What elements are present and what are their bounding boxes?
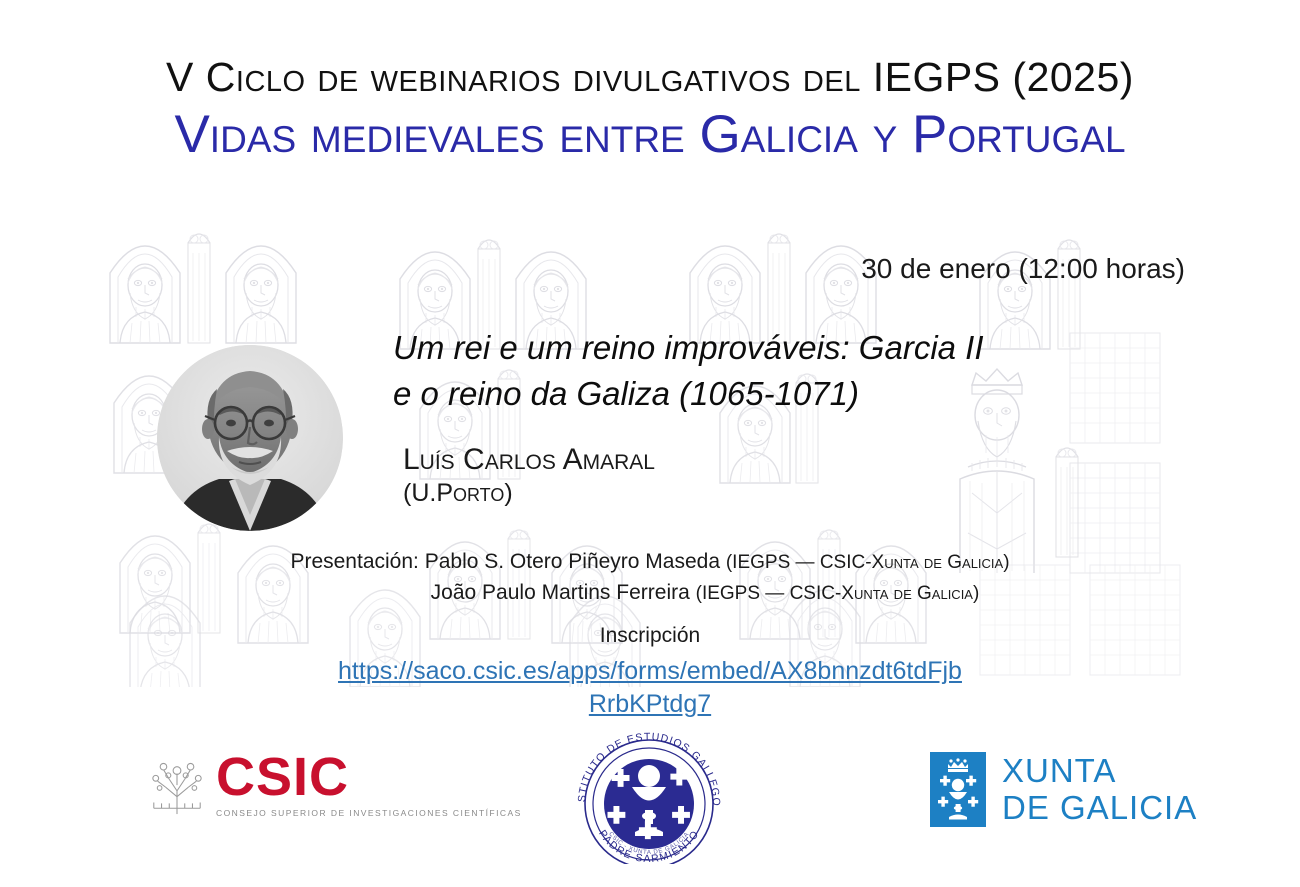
talk-title-line-2: e o reino da Galiza (1065-1071): [393, 371, 984, 417]
csic-tagline: CONSEJO SUPERIOR DE INVESTIGACIONES CIEN…: [216, 808, 522, 818]
csic-wordmark: CSIC: [216, 752, 522, 804]
iegps-seal-logo: INSTITUTO DE ESTUDIOS GALLEGOS PADRE SAR…: [565, 732, 733, 864]
presenter-1-institution: (IEGPS — CSIC-Xunta de Galicia): [726, 552, 1010, 573]
presenter-line-1: Presentación: Pablo S. Otero Piñeyro Mas…: [0, 546, 1300, 577]
presenter-2-institution: (IEGPS — CSIC-Xunta de Galicia): [696, 583, 980, 604]
inscription-link[interactable]: https://saco.csic.es/apps/forms/embed/AX…: [330, 655, 970, 721]
inscription-label: Inscripción: [0, 622, 1300, 649]
presenter-1-name: Presentación: Pablo S. Otero Piñeyro Mas…: [290, 550, 725, 573]
xunta-line-2: DE GALICIA: [1002, 790, 1197, 827]
inscription-block: Inscripción https://saco.csic.es/apps/fo…: [0, 622, 1300, 721]
xunta-wordmark: XUNTA DE GALICIA: [1002, 753, 1197, 827]
presenter-line-2: João Paulo Martins Ferreira (IEGPS — CSI…: [0, 577, 1300, 608]
csic-tree-icon: [148, 758, 206, 816]
presenters-block: Presentación: Pablo S. Otero Piñeyro Mas…: [0, 546, 1300, 608]
speaker-affiliation: (U.Porto): [403, 479, 655, 507]
webinar-poster: V Ciclo de webinarios divulgativos del I…: [0, 0, 1300, 887]
logo-bar: CSIC CONSEJO SUPERIOR DE INVESTIGACIONES…: [0, 730, 1300, 870]
csic-logo: CSIC CONSEJO SUPERIOR DE INVESTIGACIONES…: [148, 752, 522, 818]
speaker-portrait-avatar: [157, 345, 343, 531]
speaker-block: Luís Carlos Amaral (U.Porto): [403, 443, 655, 507]
talk-title-line-1: Um rei e um reino improváveis: Garcia II: [393, 325, 984, 371]
xunta-logo: XUNTA DE GALICIA: [930, 752, 1197, 827]
presenter-2-name: João Paulo Martins Ferreira: [431, 581, 696, 604]
poster-headings: V Ciclo de webinarios divulgativos del I…: [0, 0, 1300, 163]
speaker-name: Luís Carlos Amaral: [403, 443, 655, 477]
xunta-line-1: XUNTA: [1002, 753, 1197, 790]
poster-title: Vidas medievales entre Galicia y Portuga…: [0, 107, 1300, 163]
talk-title: Um rei e um reino improváveis: Garcia II…: [393, 325, 984, 416]
xunta-coat-of-arms-icon: [930, 752, 986, 827]
series-title: V Ciclo de webinarios divulgativos del I…: [0, 56, 1300, 99]
event-date: 30 de enero (12:00 horas): [861, 253, 1185, 285]
